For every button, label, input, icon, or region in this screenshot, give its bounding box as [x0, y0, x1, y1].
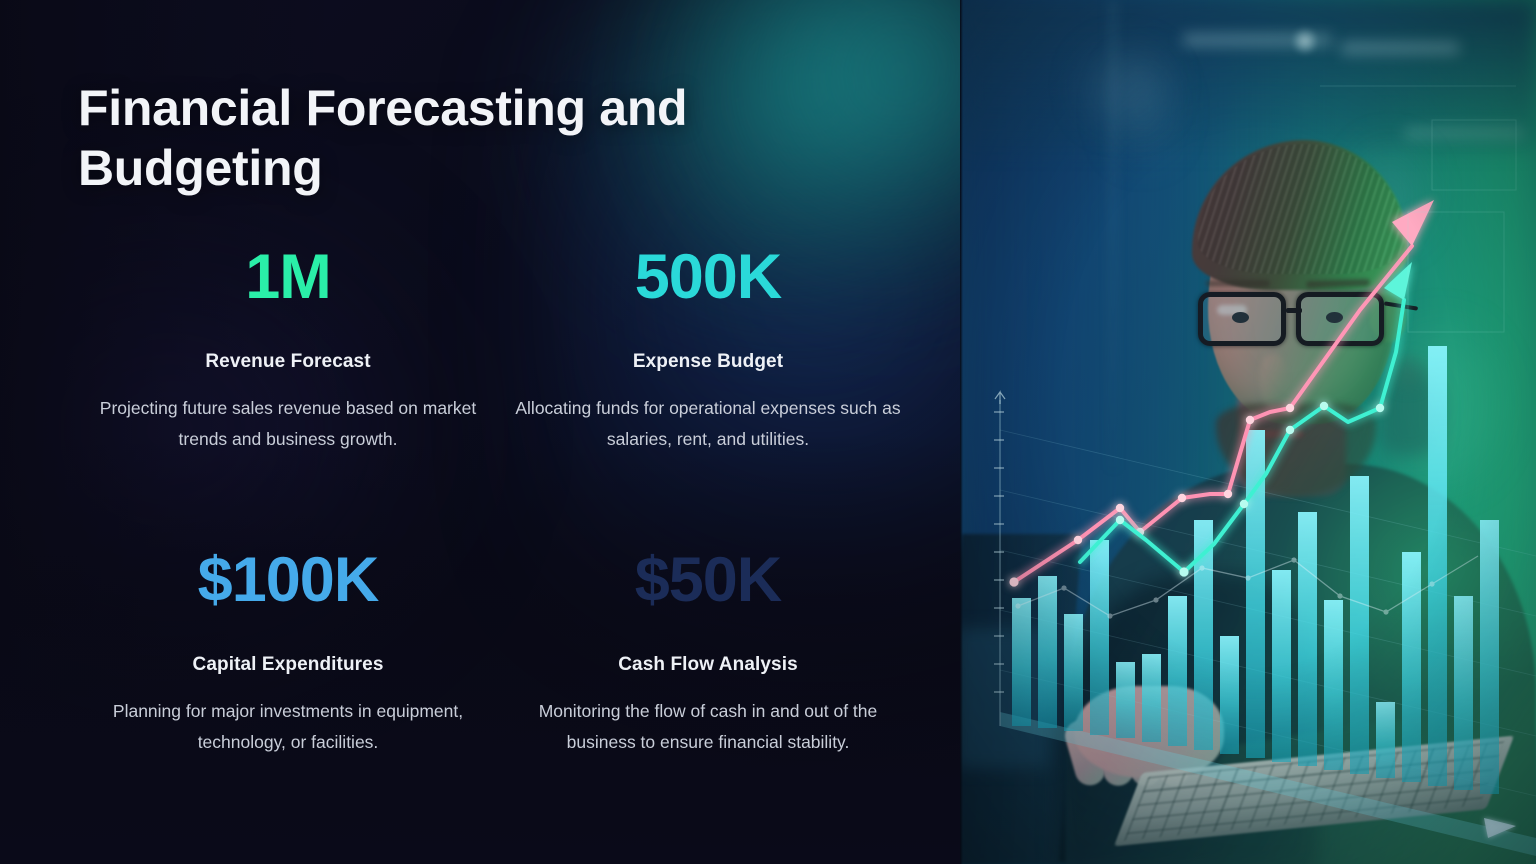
slide: Financial Forecasting and Budgeting 1M R… — [0, 0, 1536, 864]
stat-value: $50K — [510, 549, 906, 612]
photo-vignette — [960, 0, 1536, 864]
stat-label: Expense Budget — [510, 351, 906, 373]
stat-description: Projecting future sales revenue based on… — [90, 393, 486, 455]
stat-label: Capital Expenditures — [90, 654, 486, 676]
stat-description: Planning for major investments in equipm… — [90, 696, 486, 758]
stats-grid: 1M Revenue Forecast Projecting future sa… — [78, 246, 900, 759]
page-title: Financial Forecasting and Budgeting — [78, 78, 738, 198]
stat-label: Revenue Forecast — [90, 351, 486, 373]
content-panel: Financial Forecasting and Budgeting 1M R… — [0, 0, 960, 864]
stat-value: 1M — [90, 246, 486, 309]
stat-label: Cash Flow Analysis — [510, 654, 906, 676]
stat-card-revenue-forecast: 1M Revenue Forecast Projecting future sa… — [78, 246, 498, 455]
stat-card-cash-flow-analysis: $50K Cash Flow Analysis Monitoring the f… — [498, 549, 918, 758]
stat-card-expense-budget: 500K Expense Budget Allocating funds for… — [498, 246, 918, 455]
panel-seam — [960, 0, 963, 864]
content-wrapper: Financial Forecasting and Budgeting 1M R… — [0, 0, 960, 864]
photo-panel — [960, 0, 1536, 864]
stat-value: 500K — [510, 246, 906, 309]
stat-description: Monitoring the flow of cash in and out o… — [510, 696, 906, 758]
stat-value: $100K — [90, 549, 486, 612]
stat-description: Allocating funds for operational expense… — [510, 393, 906, 455]
stat-card-capital-expenditures: $100K Capital Expenditures Planning for … — [78, 549, 498, 758]
